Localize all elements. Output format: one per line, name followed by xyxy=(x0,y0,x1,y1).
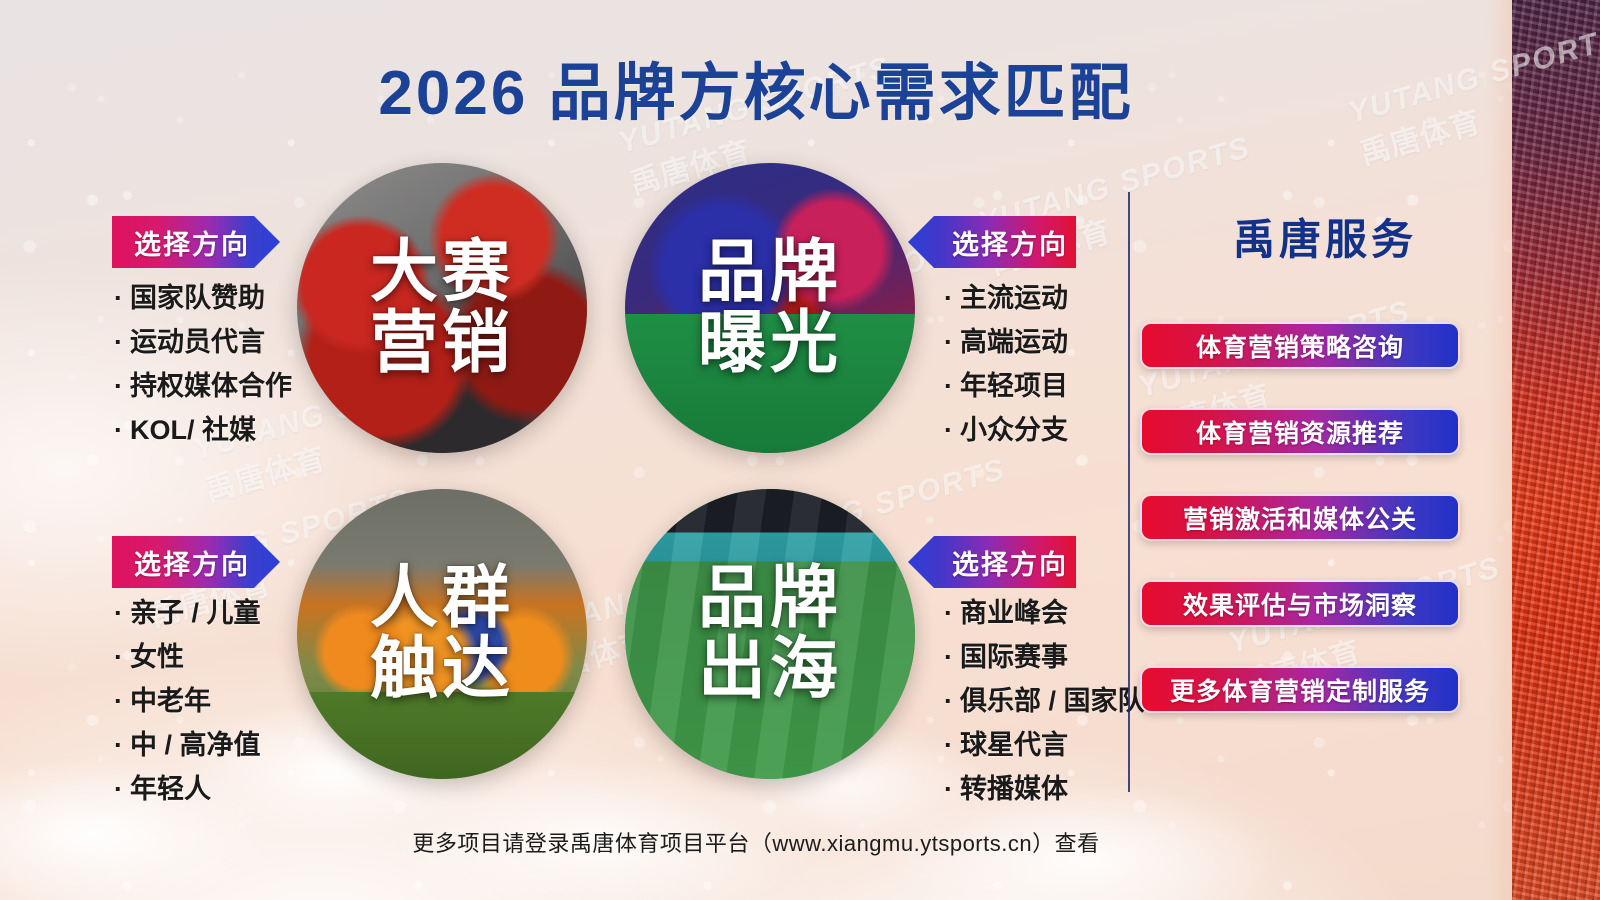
list-item[interactable]: ·中老年 xyxy=(114,688,261,715)
bullet-dot: · xyxy=(944,686,953,716)
circle-label: 品牌 曝光 xyxy=(698,237,842,380)
list-item[interactable]: ·女性 xyxy=(114,644,261,671)
list-item[interactable]: ·KOL/ 社媒 xyxy=(114,417,292,444)
bullet-dot: · xyxy=(944,642,953,672)
vertical-divider xyxy=(1128,192,1130,792)
list-item-label: 国家队赞助 xyxy=(130,283,265,313)
list-item[interactable]: ·高端运动 xyxy=(944,329,1068,356)
list-item-label: 高端运动 xyxy=(960,327,1068,357)
slide-canvas: YUTANG SPORTS禹唐体育 YUTANG SPORTS禹唐体育 YUTA… xyxy=(0,0,1600,900)
list-audience-reach: ·亲子 / 儿童 ·女性 ·中老年 ·中 / 高净值 ·年轻人 xyxy=(114,600,261,820)
list-item[interactable]: ·运动员代言 xyxy=(114,329,292,356)
service-pill-strategy-consulting[interactable]: 体育营销策略咨询 xyxy=(1140,322,1460,369)
service-pill-label: 体育营销策略咨询 xyxy=(1196,328,1404,364)
circle-audience-reach[interactable]: 人群 触达 xyxy=(297,489,587,779)
list-item[interactable]: ·国际赛事 xyxy=(944,644,1145,671)
right-red-strip xyxy=(1512,0,1600,900)
list-item[interactable]: ·年轻项目 xyxy=(944,373,1068,400)
list-item[interactable]: ·主流运动 xyxy=(944,285,1068,312)
badge-direction-competition-marketing[interactable]: 选择方向 xyxy=(112,216,280,268)
badge-direction-brand-exposure[interactable]: 选择方向 xyxy=(908,216,1076,268)
list-item-label: 运动员代言 xyxy=(130,327,265,357)
service-pill-activation-pr[interactable]: 营销激活和媒体公关 xyxy=(1140,494,1460,541)
list-item-label: KOL/ 社媒 xyxy=(130,415,256,445)
list-item-label: 转播媒体 xyxy=(960,774,1068,804)
bullet-dot: · xyxy=(114,415,123,445)
list-item-label: 亲子 / 儿童 xyxy=(130,598,261,628)
list-item[interactable]: ·年轻人 xyxy=(114,776,261,803)
bullet-dot: · xyxy=(944,598,953,628)
badge-label: 选择方向 xyxy=(134,223,250,262)
bullet-dot: · xyxy=(944,283,953,313)
red-strip-soft-edge xyxy=(1486,0,1512,900)
service-pill-resource-recommendation[interactable]: 体育营销资源推荐 xyxy=(1140,408,1460,455)
list-item[interactable]: ·中 / 高净值 xyxy=(114,732,261,759)
list-item[interactable]: ·亲子 / 儿童 xyxy=(114,600,261,627)
list-item[interactable]: ·转播媒体 xyxy=(944,776,1145,803)
list-item-label: 球星代言 xyxy=(960,730,1068,760)
bullet-dot: · xyxy=(944,415,953,445)
list-item[interactable]: ·小众分支 xyxy=(944,417,1068,444)
bullet-dot: · xyxy=(114,686,123,716)
list-competition-marketing: ·国家队赞助 ·运动员代言 ·持权媒体合作 ·KOL/ 社媒 xyxy=(114,285,292,461)
bullet-dot: · xyxy=(114,327,123,357)
list-item-label: 商业峰会 xyxy=(960,598,1068,628)
service-pill-label: 更多体育营销定制服务 xyxy=(1170,672,1430,708)
circle-competition-marketing[interactable]: 大赛 营销 xyxy=(297,163,587,453)
page-title: 2026 品牌方核心需求匹配 xyxy=(0,42,1512,132)
bullet-dot: · xyxy=(114,371,123,401)
service-pill-label: 营销激活和媒体公关 xyxy=(1183,500,1417,536)
badge-label: 选择方向 xyxy=(952,223,1068,262)
bullet-dot: · xyxy=(944,730,953,760)
circle-label: 品牌 出海 xyxy=(698,563,842,706)
list-item-label: 主流运动 xyxy=(960,283,1068,313)
badge-label: 选择方向 xyxy=(952,543,1068,582)
badge-direction-brand-going-global[interactable]: 选择方向 xyxy=(908,536,1076,588)
list-item-label: 中老年 xyxy=(130,686,211,716)
list-item-label: 俱乐部 / 国家队 xyxy=(960,686,1145,716)
bullet-dot: · xyxy=(944,327,953,357)
list-brand-exposure: ·主流运动 ·高端运动 ·年轻项目 ·小众分支 xyxy=(944,285,1068,461)
bullet-dot: · xyxy=(114,283,123,313)
badge-direction-audience-reach[interactable]: 选择方向 xyxy=(112,536,280,588)
badge-label: 选择方向 xyxy=(134,543,250,582)
list-item-label: 小众分支 xyxy=(960,415,1068,445)
circle-label: 大赛 营销 xyxy=(370,237,514,380)
list-item-label: 年轻项目 xyxy=(960,371,1068,401)
list-item-label: 持权媒体合作 xyxy=(130,371,292,401)
list-item-label: 女性 xyxy=(130,642,184,672)
circle-brand-going-global[interactable]: 品牌 出海 xyxy=(625,489,915,779)
list-item-label: 中 / 高净值 xyxy=(130,730,261,760)
list-item[interactable]: ·持权媒体合作 xyxy=(114,373,292,400)
services-title: 禹唐服务 xyxy=(1160,206,1490,267)
circle-brand-exposure[interactable]: 品牌 曝光 xyxy=(625,163,915,453)
list-item[interactable]: ·商业峰会 xyxy=(944,600,1145,627)
list-item[interactable]: ·俱乐部 / 国家队 xyxy=(944,688,1145,715)
service-pill-label: 效果评估与市场洞察 xyxy=(1183,586,1417,622)
bullet-dot: · xyxy=(114,598,123,628)
footer-note: 更多项目请登录禹唐体育项目平台（www.xiangmu.ytsports.cn）… xyxy=(0,826,1512,858)
bullet-dot: · xyxy=(944,371,953,401)
service-pill-evaluation-insight[interactable]: 效果评估与市场洞察 xyxy=(1140,580,1460,627)
bullet-dot: · xyxy=(114,730,123,760)
bullet-dot: · xyxy=(114,774,123,804)
circle-label: 人群 触达 xyxy=(370,563,514,706)
bullet-dot: · xyxy=(944,774,953,804)
list-item-label: 年轻人 xyxy=(130,774,211,804)
list-item[interactable]: ·球星代言 xyxy=(944,732,1145,759)
bullet-dot: · xyxy=(114,642,123,672)
list-brand-going-global: ·商业峰会 ·国际赛事 ·俱乐部 / 国家队 ·球星代言 ·转播媒体 xyxy=(944,600,1145,820)
service-pill-label: 体育营销资源推荐 xyxy=(1196,414,1404,450)
service-pill-custom-services[interactable]: 更多体育营销定制服务 xyxy=(1140,666,1460,713)
list-item-label: 国际赛事 xyxy=(960,642,1068,672)
list-item[interactable]: ·国家队赞助 xyxy=(114,285,292,312)
